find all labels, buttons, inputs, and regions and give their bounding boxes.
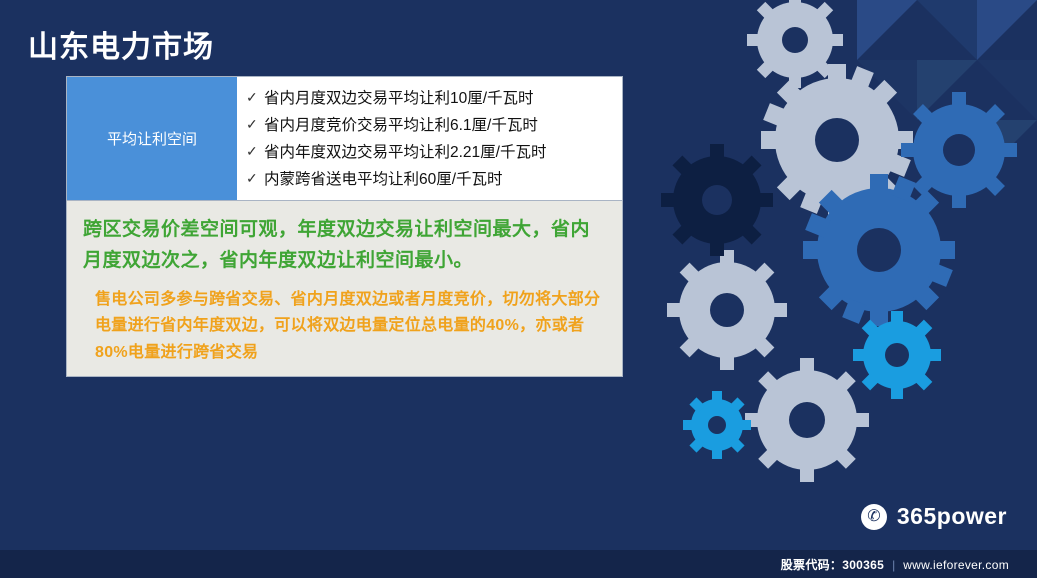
list-item-label: 省内月度双边交易平均让利10厘/千瓦时: [264, 87, 614, 111]
summary-block: 跨区交易价差空间可观，年度双边交易让利空间最大，省内月度双边次之，省内年度双边让…: [67, 200, 622, 376]
page-title: 山东电力市场: [28, 22, 214, 66]
check-icon: ✓: [246, 141, 264, 163]
footer-content: 股票代码：300365 | www.ieforever.com: [781, 556, 1009, 573]
summary-conclusion: 跨区交易价差空间可观，年度双边交易让利空间最大，省内月度双边次之，省内年度双边让…: [83, 215, 606, 277]
list-item-label: 内蒙跨省送电平均让利60厘/千瓦时: [264, 168, 614, 192]
slide: 山东电力市场 平均让利空间 ✓ 省内月度双边交易平均让利10厘/千瓦时 ✓ 省内…: [0, 0, 1037, 578]
summary-recommendation: 售电公司多参与跨省交易、省内月度双边或者月度竞价，切勿将大部分电量进行省内年度双…: [83, 287, 606, 367]
list-item-label: 省内月度竞价交易平均让利6.1厘/千瓦时: [264, 114, 614, 138]
website-url: www.ieforever.com: [903, 558, 1009, 572]
row-label-average-discount: 平均让利空间: [67, 77, 238, 200]
check-icon: ✓: [246, 168, 264, 190]
bullet-list: ✓ 省内月度双边交易平均让利10厘/千瓦时 ✓ 省内月度竞价交易平均让利6.1厘…: [238, 77, 622, 200]
brand-block: ✆ 365power: [861, 503, 1007, 530]
table-row: 平均让利空间 ✓ 省内月度双边交易平均让利10厘/千瓦时 ✓ 省内月度竞价交易平…: [67, 77, 622, 200]
list-item: ✓ 省内月度竞价交易平均让利6.1厘/千瓦时: [246, 114, 614, 138]
check-icon: ✓: [246, 114, 264, 136]
footer-separator: |: [892, 558, 895, 572]
content-card: 平均让利空间 ✓ 省内月度双边交易平均让利10厘/千瓦时 ✓ 省内月度竞价交易平…: [66, 76, 623, 377]
wechat-icon: ✆: [861, 504, 887, 530]
check-icon: ✓: [246, 87, 264, 109]
list-item: ✓ 省内月度双边交易平均让利10厘/千瓦时: [246, 87, 614, 111]
stock-code: 股票代码：300365: [781, 556, 884, 573]
list-item: ✓ 省内年度双边交易平均让利2.21厘/千瓦时: [246, 141, 614, 165]
list-item-label: 省内年度双边交易平均让利2.21厘/千瓦时: [264, 141, 614, 165]
list-item: ✓ 内蒙跨省送电平均让利60厘/千瓦时: [246, 168, 614, 192]
triangle-pattern-decoration: [737, 0, 1037, 250]
gears-decoration: [607, 0, 1037, 530]
brand-name: 365power: [897, 503, 1007, 530]
